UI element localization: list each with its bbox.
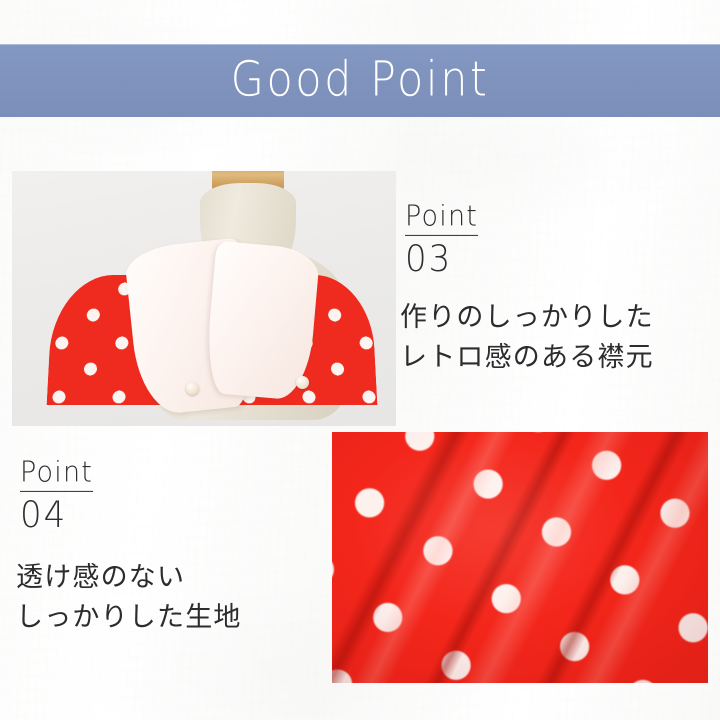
- product-feature-page: Good Point Point 03 作りのしっかりした レトロ感のある襟元 …: [0, 0, 720, 720]
- point-word-03: Point: [405, 202, 478, 236]
- dress-button: [296, 376, 309, 389]
- point-number-04: 04: [20, 497, 93, 534]
- header-banner: Good Point: [0, 44, 720, 117]
- mannequin-torso: [60, 171, 360, 405]
- collar-closeup-photo: [12, 171, 396, 426]
- dress-button: [186, 382, 199, 395]
- polkadot-pattern: [332, 432, 708, 683]
- point-label-03: Point 03: [405, 203, 478, 276]
- point-caption-04-line2: しっかりした生地: [16, 598, 242, 637]
- page-title: Good Point: [231, 56, 490, 104]
- point-number-03: 03: [405, 241, 478, 278]
- point-caption-03-line2: レトロ感のある襟元: [400, 338, 654, 377]
- point-caption-03-line1: 作りのしっかりした: [400, 298, 654, 337]
- point-label-04: Point 04: [20, 459, 93, 532]
- fabric-closeup-photo: [332, 432, 708, 683]
- point-word-04: Point: [20, 458, 93, 492]
- point-caption-04-line1: 透け感のない: [16, 558, 185, 597]
